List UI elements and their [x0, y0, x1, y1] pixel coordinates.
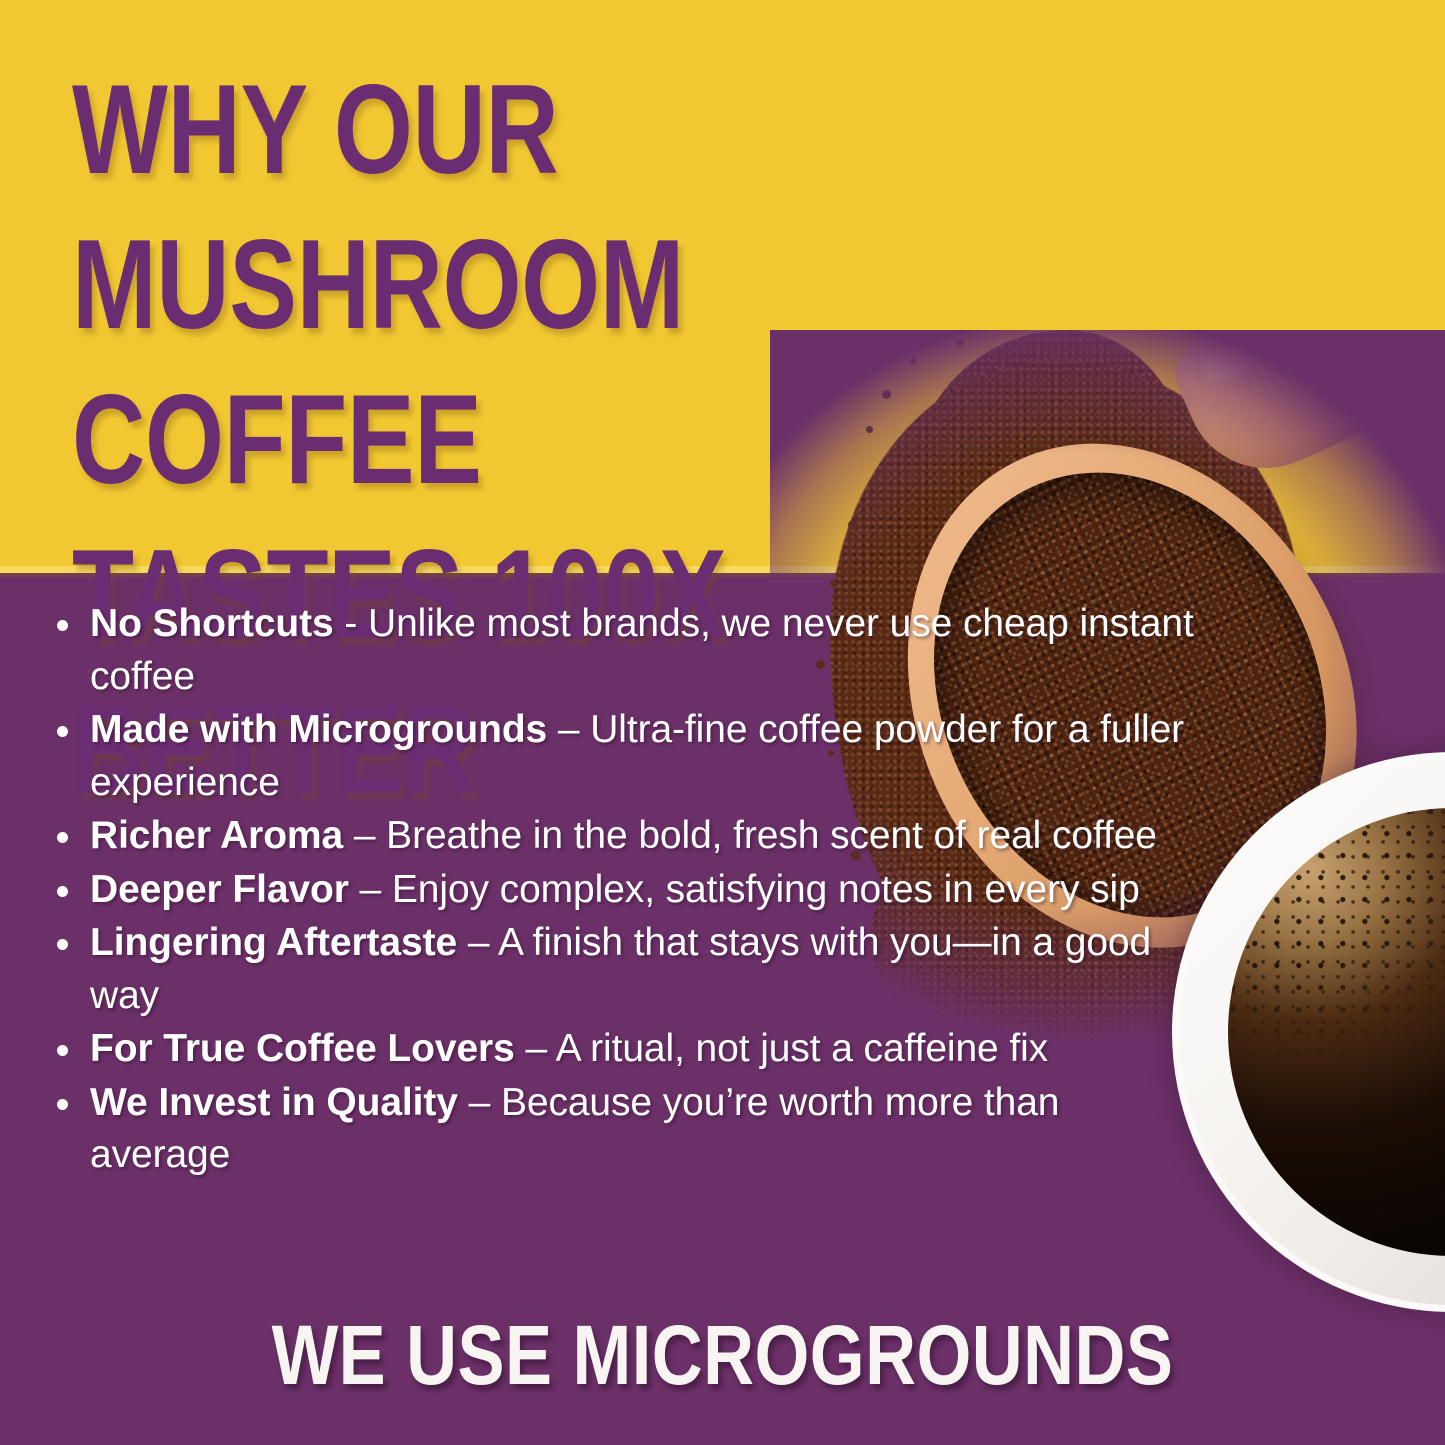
benefits-list: No Shortcuts - Unlike most brands, we ne… — [44, 598, 1204, 1183]
benefit-separator: - — [334, 602, 368, 645]
benefit-separator: – — [547, 708, 590, 751]
benefit-description: Breathe in the bold, fresh scent of real… — [386, 814, 1157, 857]
benefit-description: Enjoy complex, satisfying notes in every… — [392, 868, 1140, 911]
benefit-title: No Shortcuts — [90, 602, 334, 645]
benefit-title: Richer Aroma — [90, 814, 343, 857]
benefit-separator: – — [343, 814, 386, 857]
poster-canvas: WHY OUR MUSHROOM COFFEE TASTES 100X BETT… — [0, 0, 1445, 1445]
list-item: We Invest in Quality – Because you’re wo… — [44, 1077, 1204, 1182]
benefit-description: A ritual, not just a caffeine fix — [556, 1027, 1048, 1070]
benefit-separator: – — [458, 1081, 501, 1124]
list-item: For True Coffee Lovers – A ritual, not j… — [44, 1023, 1204, 1076]
list-item: Deeper Flavor – Enjoy complex, satisfyin… — [44, 864, 1204, 917]
benefit-title: Made with Microgrounds — [90, 708, 547, 751]
benefit-separator: – — [349, 868, 392, 911]
benefit-separator: – — [457, 921, 498, 964]
benefit-title: For True Coffee Lovers — [90, 1027, 515, 1070]
list-item: No Shortcuts - Unlike most brands, we ne… — [44, 598, 1204, 703]
benefit-title: We Invest in Quality — [90, 1081, 458, 1124]
footer-banner-text: WE USE MICROGROUNDS — [116, 1306, 1330, 1404]
benefit-title: Lingering Aftertaste — [90, 921, 457, 964]
list-item: Lingering Aftertaste – A finish that sta… — [44, 917, 1204, 1022]
list-item: Made with Microgrounds – Ultra-fine coff… — [44, 704, 1204, 809]
benefit-separator: – — [515, 1027, 556, 1070]
benefit-title: Deeper Flavor — [90, 868, 349, 911]
list-item: Richer Aroma – Breathe in the bold, fres… — [44, 810, 1204, 863]
